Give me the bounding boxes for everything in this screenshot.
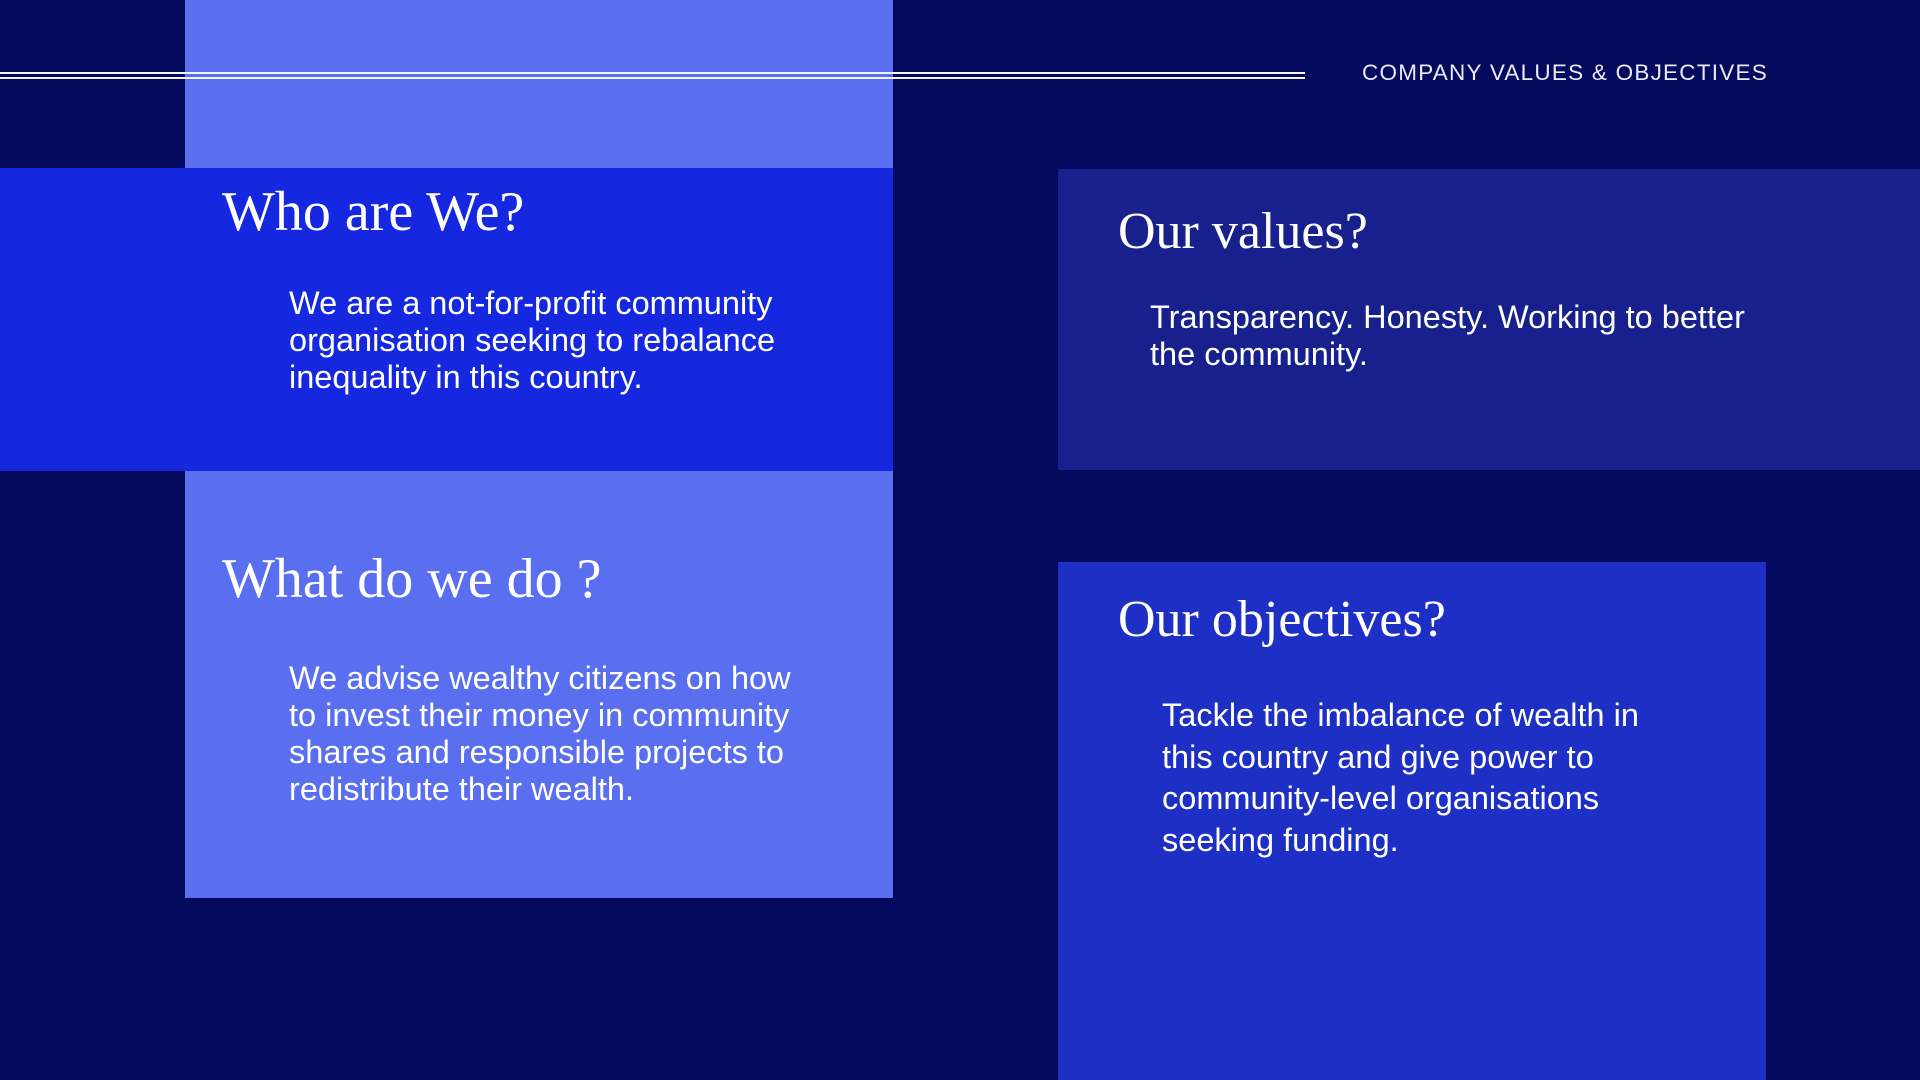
decorative-block-periwinkle-top (185, 0, 893, 170)
section-what-do-we-do: What do we do ? We advise wealthy citize… (222, 550, 862, 808)
section-objectives-heading: Our objectives? (1118, 593, 1778, 647)
section-who-are-we: Who are We? We are a not-for-profit comm… (222, 183, 862, 396)
section-who-body: We are a not-for-profit community organi… (289, 285, 849, 396)
section-objectives-body: Tackle the imbalance of wealth in this c… (1162, 695, 1672, 861)
section-what-heading: What do we do ? (222, 550, 862, 608)
section-values-body: Transparency. Honesty. Working to better… (1150, 299, 1750, 373)
slide-canvas: COMPANY VALUES & OBJECTIVES Who are We? … (0, 0, 1920, 1080)
section-our-objectives: Our objectives? Tackle the imbalance of … (1118, 593, 1778, 861)
section-what-body: We advise wealthy citizens on how to inv… (289, 660, 819, 808)
section-who-heading: Who are We? (222, 183, 862, 241)
section-values-heading: Our values? (1118, 205, 1818, 259)
header-divider-rule (0, 72, 1305, 79)
header-eyebrow-title: COMPANY VALUES & OBJECTIVES (1348, 60, 1768, 86)
section-our-values: Our values? Transparency. Honesty. Worki… (1118, 205, 1818, 373)
